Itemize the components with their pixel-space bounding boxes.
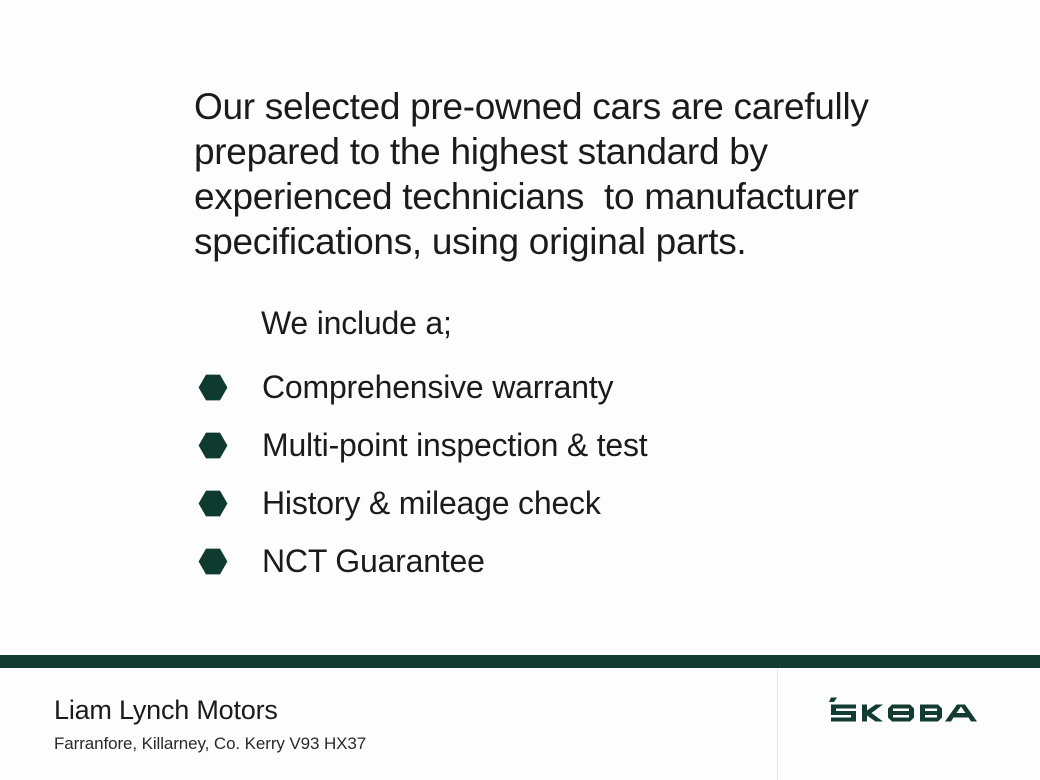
hexagon-bullet-icon [198, 374, 234, 401]
skoda-logo-icon [829, 697, 987, 729]
list-item-label: History & mileage check [234, 484, 601, 522]
hexagon-bullet-icon [198, 432, 234, 459]
hexagon-bullet-icon [198, 548, 234, 575]
dealer-address: Farranfore, Killarney, Co. Kerry V93 HX3… [54, 733, 366, 755]
list-item-label: NCT Guarantee [234, 542, 485, 580]
list-item-label: Multi-point inspection & test [234, 426, 648, 464]
dealer-name: Liam Lynch Motors [54, 694, 278, 726]
slide-canvas: Our selected pre-owned cars are carefull… [0, 0, 1040, 780]
benefits-list: Comprehensive warranty Multi-point inspe… [198, 358, 898, 590]
include-lead-in: We include a; [261, 303, 452, 343]
footer-vertical-divider [777, 668, 778, 780]
footer-accent-bar [0, 655, 1040, 668]
list-item: NCT Guarantee [198, 532, 898, 590]
hexagon-bullet-icon [198, 490, 234, 517]
page-title: Our selected pre-owned cars are carefull… [194, 84, 884, 264]
list-item: History & mileage check [198, 474, 898, 532]
list-item: Comprehensive warranty [198, 358, 898, 416]
list-item-label: Comprehensive warranty [234, 368, 613, 406]
list-item: Multi-point inspection & test [198, 416, 898, 474]
